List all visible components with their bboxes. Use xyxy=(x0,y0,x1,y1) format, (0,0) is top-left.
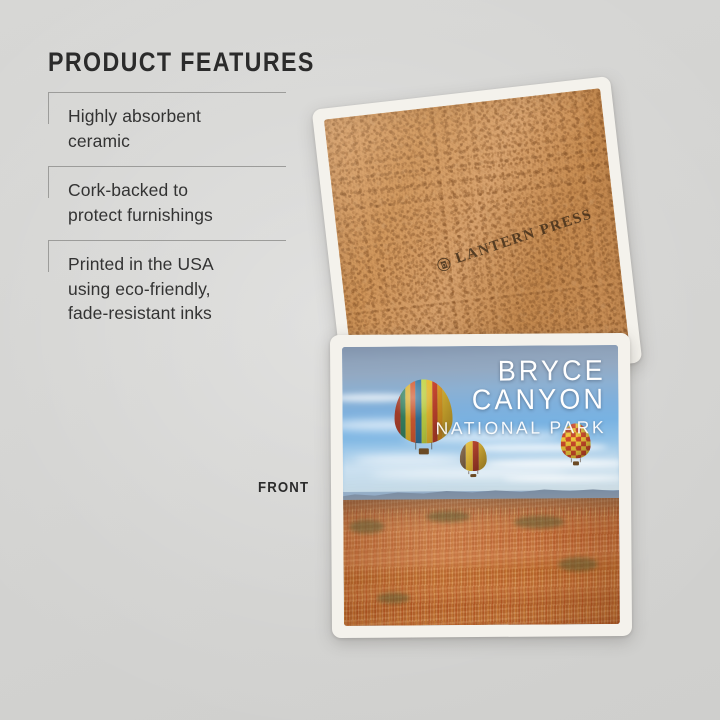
small-center-balloon xyxy=(460,441,486,477)
vegetation-patch xyxy=(426,511,470,522)
feature-tick-mark xyxy=(48,92,49,124)
bryce-canyon-artwork: BRYCE CANYON NATIONAL PARK xyxy=(342,345,620,626)
right-checker-balloon xyxy=(561,423,592,465)
product-feature-image: PRODUCT FEATURES Highly absorbent cerami… xyxy=(0,0,720,720)
page-title: PRODUCT FEATURES xyxy=(48,48,282,76)
feature-divider-line xyxy=(48,166,286,167)
balloon-basket xyxy=(573,461,579,464)
callout-label-front: FRONT xyxy=(258,479,309,496)
feature-item-1: Highly absorbent ceramic xyxy=(48,92,320,166)
large-striped-balloon xyxy=(395,380,453,456)
balloon-shading xyxy=(460,441,486,472)
coaster-front: BRYCE CANYON NATIONAL PARK xyxy=(330,333,632,638)
feature-tick-mark xyxy=(48,166,49,198)
feature-item-2: Cork-backed to protect furnishings xyxy=(48,166,320,240)
balloon-basket xyxy=(471,474,476,477)
balloon-shading xyxy=(395,380,453,444)
balloon-envelope xyxy=(395,380,453,444)
artwork-surface: BRYCE CANYON NATIONAL PARK xyxy=(342,345,620,626)
balloon-basket xyxy=(419,448,429,454)
feature-divider-line xyxy=(48,92,286,93)
feature-text: Cork-backed to protect furnishings xyxy=(68,178,320,228)
feature-text: Printed in the USA using eco-friendly, f… xyxy=(68,252,320,327)
lantern-icon xyxy=(435,255,453,273)
feature-divider-line xyxy=(48,240,286,241)
product-features-panel: PRODUCT FEATURES Highly absorbent cerami… xyxy=(48,48,320,338)
feature-item-3: Printed in the USA using eco-friendly, f… xyxy=(48,240,320,339)
vegetation-patch xyxy=(377,592,410,603)
feature-text: Highly absorbent ceramic xyxy=(68,104,320,154)
balloon-shading xyxy=(561,423,592,458)
vegetation-patch xyxy=(559,557,598,571)
vegetation-patch xyxy=(514,516,564,529)
balloon-envelope xyxy=(460,441,486,472)
feature-tick-mark xyxy=(48,240,49,272)
balloon-envelope xyxy=(561,423,592,458)
